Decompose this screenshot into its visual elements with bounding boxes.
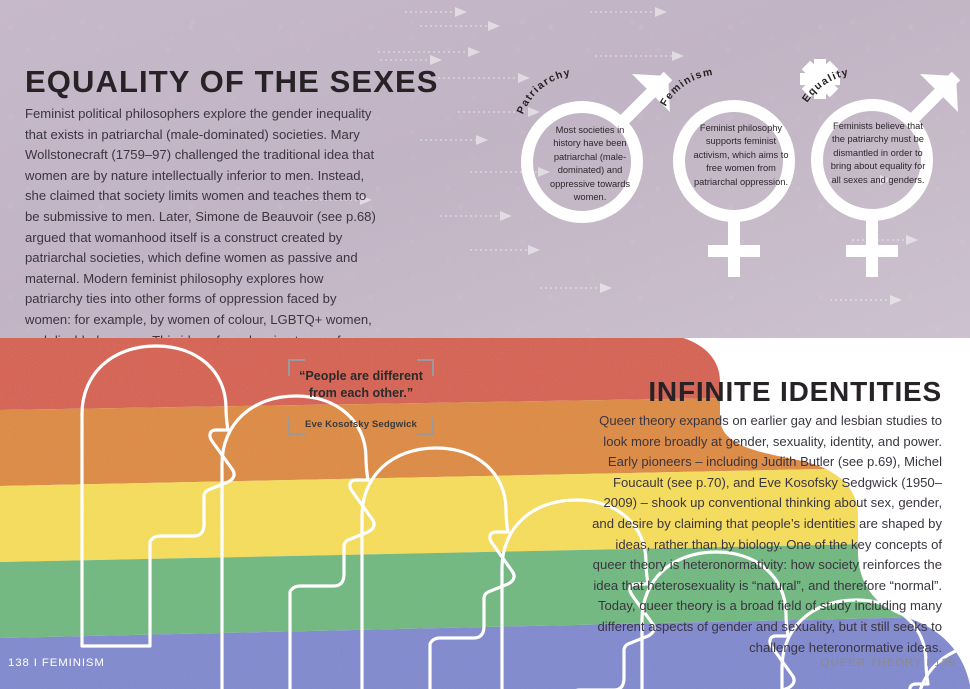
left-page-panel: Patriarchy Feminism Equality Most societ…	[0, 0, 970, 348]
footer-left-page-number: 138 I FEMINISM	[8, 657, 105, 669]
diagram-text-equality: Feminists believe that the patriarchy mu…	[828, 120, 928, 187]
quote-text: “People are different from each other.”	[296, 368, 426, 401]
diagram-text-feminism: Feminist philosophy supports feminist ac…	[692, 122, 790, 189]
left-page-title: EQUALITY OF THE SEXES	[25, 64, 439, 100]
book-spread-page: Patriarchy Feminism Equality Most societ…	[0, 0, 970, 689]
footer-right-page-number: QUEER THEORY I 139	[821, 657, 956, 669]
left-page-body: Feminist political philosophers explore …	[25, 104, 377, 348]
quote-attribution: Eve Kosofsky Sedgwick	[296, 419, 426, 430]
right-page-title: INFINITE IDENTITIES	[558, 376, 942, 408]
pull-quote: “People are different from each other.” …	[288, 359, 434, 435]
diagram-text-patriarchy: Most societies in history have been patr…	[542, 124, 638, 204]
right-page-body: Queer theory expands on earlier gay and …	[590, 411, 942, 658]
